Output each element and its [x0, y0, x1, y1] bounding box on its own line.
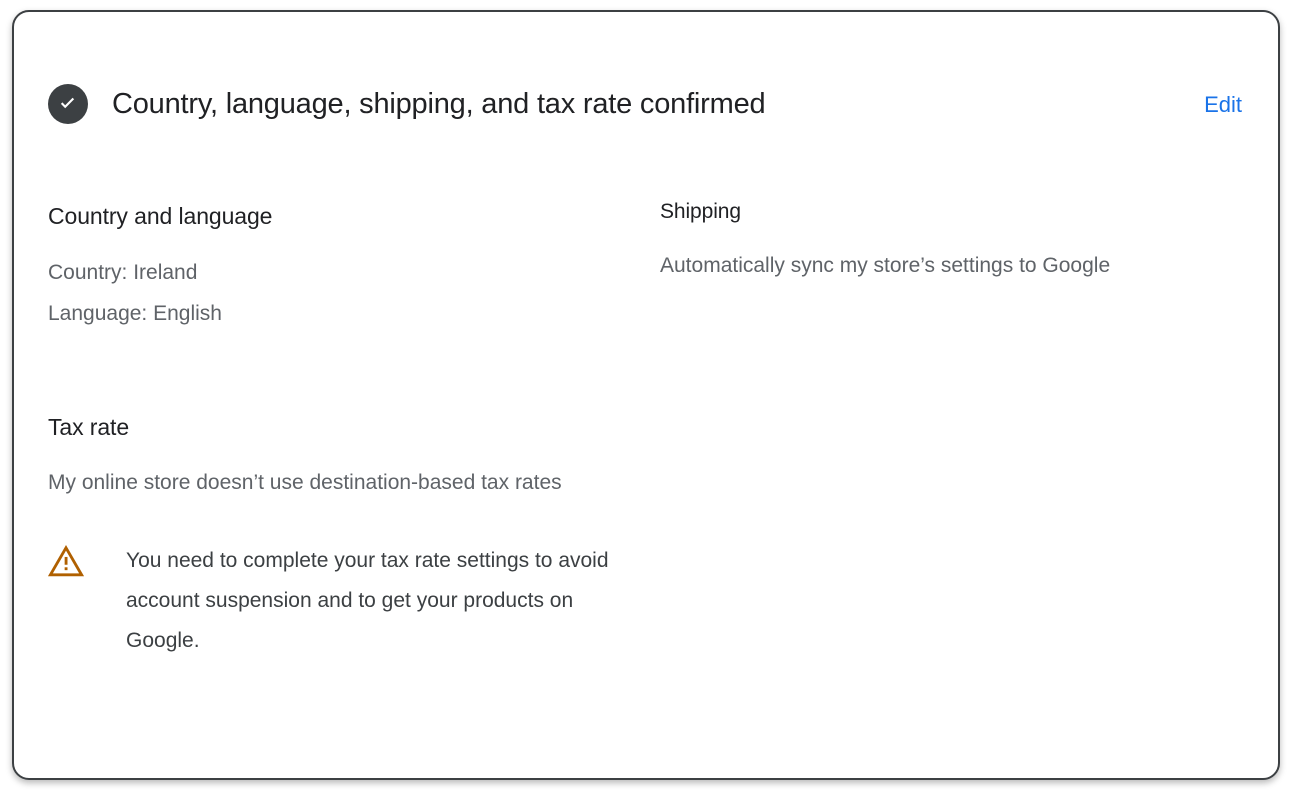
shipping-description: Automatically sync my store’s settings t… — [660, 246, 1238, 286]
language-value: Language: English — [48, 293, 636, 334]
shipping-heading: Shipping — [660, 198, 1238, 226]
tax-rate-description: My online store doesn’t use destination-… — [48, 463, 636, 503]
country-value: Country: Ireland — [48, 252, 636, 293]
card-body: Country and language Country: Ireland La… — [14, 162, 1278, 778]
tax-rate-heading: Tax rate — [48, 412, 636, 442]
check-circle-icon — [48, 84, 88, 124]
country-language-section: Country and language Country: Ireland La… — [48, 201, 636, 334]
edit-button[interactable]: Edit — [1204, 92, 1242, 118]
tax-rate-warning-text: You need to complete your tax rate setti… — [126, 541, 616, 661]
right-column: Shipping Automatically sync my store’s s… — [636, 162, 1278, 286]
shipping-section: Shipping Automatically sync my store’s s… — [660, 198, 1238, 286]
card-header: Country, language, shipping, and tax rat… — [14, 12, 1278, 162]
country-language-heading: Country and language — [48, 201, 636, 231]
page-title: Country, language, shipping, and tax rat… — [112, 86, 765, 122]
screen-root: Country, language, shipping, and tax rat… — [0, 0, 1296, 800]
card-header-left: Country, language, shipping, and tax rat… — [14, 12, 1204, 124]
tax-rate-section: Tax rate My online store doesn’t use des… — [48, 412, 636, 661]
left-column: Country and language Country: Ireland La… — [14, 162, 636, 661]
warning-triangle-icon — [48, 543, 84, 579]
status-card: Country, language, shipping, and tax rat… — [12, 10, 1280, 780]
tax-rate-warning: You need to complete your tax rate setti… — [48, 541, 636, 661]
